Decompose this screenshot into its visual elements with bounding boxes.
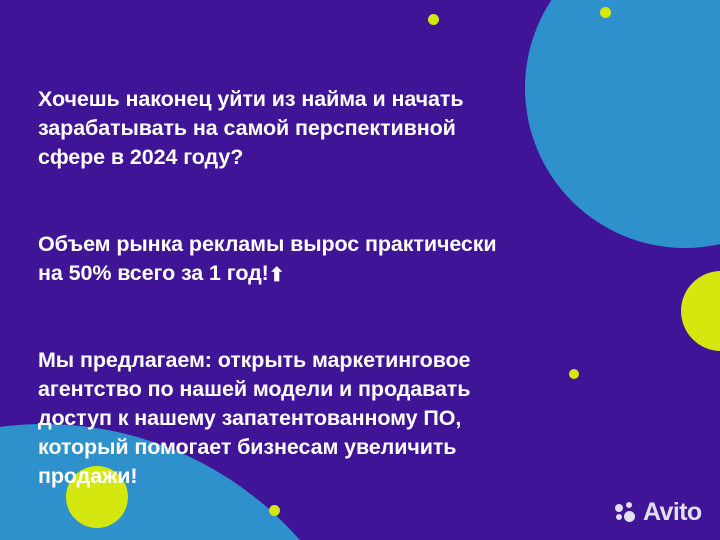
yellow-dot-icon <box>428 14 439 25</box>
avito-dots-logo-icon <box>615 502 639 524</box>
promo-banner: Хочешь наконец уйти из найма и начать за… <box>0 0 720 540</box>
yellow-dot-icon <box>600 7 611 18</box>
promo-copy: Хочешь наконец уйти из найма и начать за… <box>38 56 568 520</box>
promo-paragraph-3: Мы предлагаем: открыть маркетинговое аге… <box>38 346 568 491</box>
promo-paragraph-1: Хочешь наконец уйти из найма и начать за… <box>38 85 568 172</box>
yellow-dot-icon <box>569 369 579 379</box>
up-arrow-icon: ⬆ <box>269 266 285 285</box>
promo-paragraph-2: Объем рынка рекламы вырос практически на… <box>38 230 568 288</box>
promo-paragraph-2-text: Объем рынка рекламы вырос практически на… <box>38 232 497 285</box>
avito-brand-label: Avito <box>643 500 702 525</box>
avito-watermark: Avito <box>615 500 702 525</box>
